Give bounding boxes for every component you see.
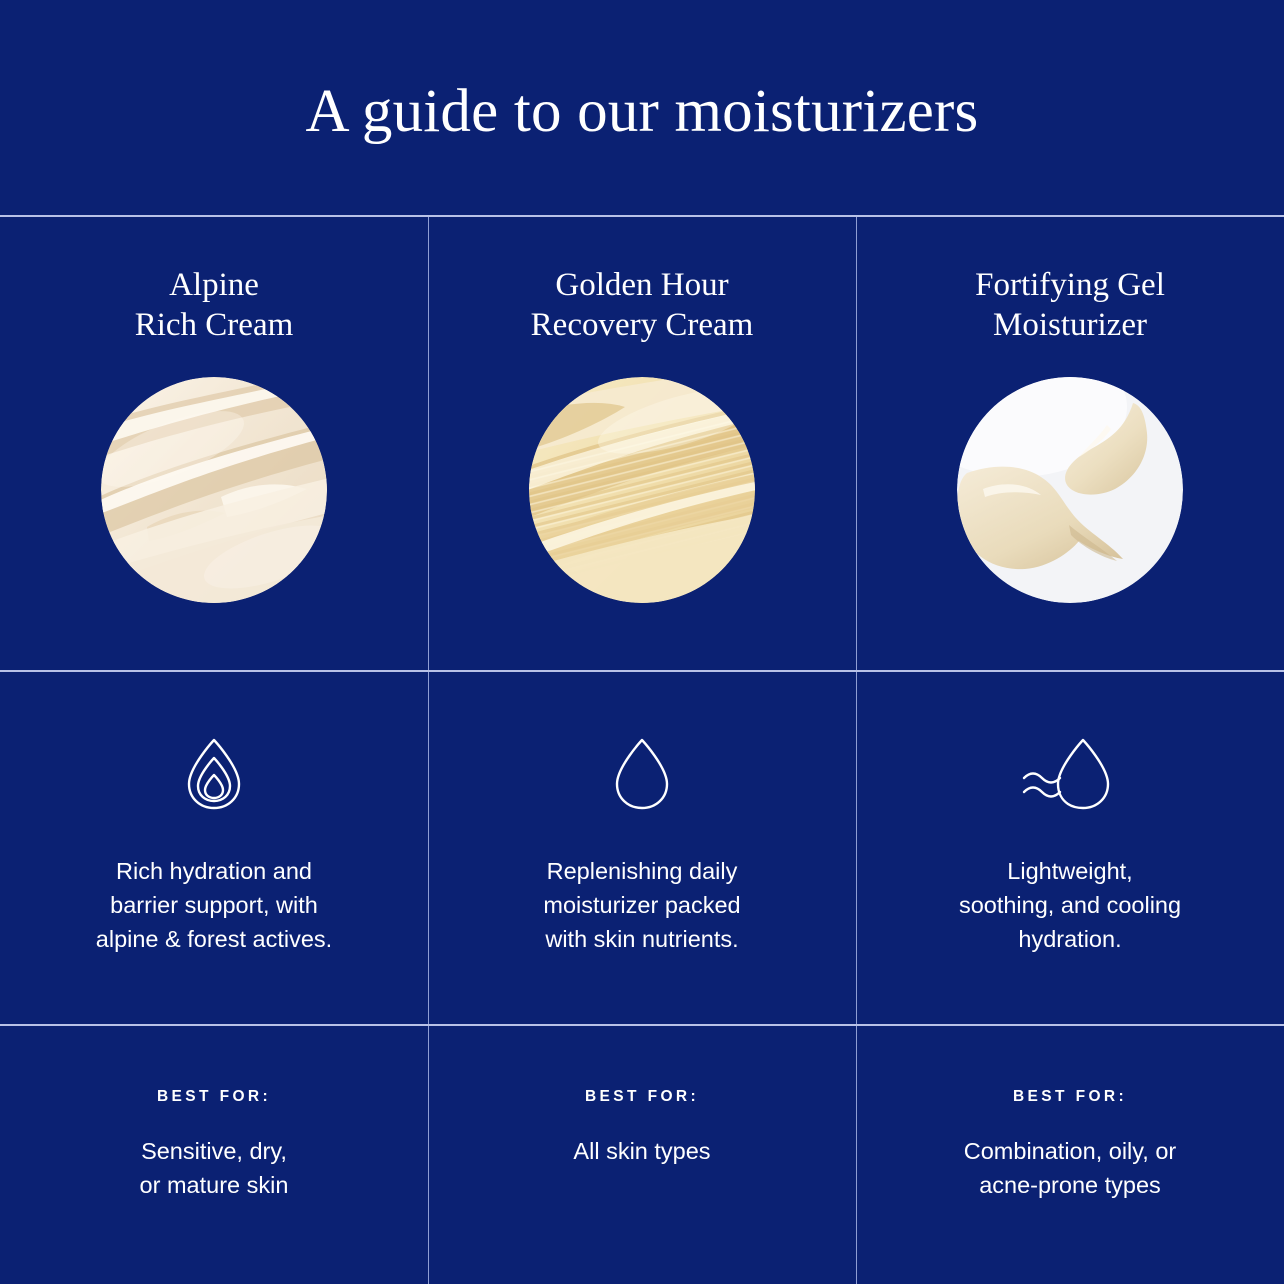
nested-droplet-icon [179, 734, 249, 814]
best-for-column-alpine-rich-cream: BEST FOR: Sensitive, dry, or mature skin [0, 1026, 428, 1284]
best-for-label: BEST FOR: [157, 1026, 271, 1106]
benefits-row: Rich hydration and barrier support, with… [0, 672, 1284, 1024]
best-for-value: Combination, oily, or acne-prone types [964, 1106, 1176, 1202]
best-for-label: BEST FOR: [1013, 1026, 1127, 1106]
best-for-label: BEST FOR: [585, 1026, 699, 1106]
benefit-column-alpine-rich-cream: Rich hydration and barrier support, with… [0, 672, 428, 1024]
best-for-row: BEST FOR: Sensitive, dry, or mature skin… [0, 1026, 1284, 1284]
benefit-column-fortifying-gel-moisturizer: Lightweight, soothing, and cooling hydra… [856, 672, 1284, 1024]
product-name: Fortifying Gel Moisturizer [975, 217, 1165, 345]
benefit-column-golden-hour-recovery-cream: Replenishing daily moisturizer packed wi… [428, 672, 856, 1024]
gel-swatch-fortifying [957, 377, 1183, 603]
moisturizer-guide-page: A guide to our moisturizers Alpine Rich … [0, 0, 1284, 1284]
droplet-icon [607, 734, 677, 814]
benefit-text: Lightweight, soothing, and cooling hydra… [959, 814, 1181, 956]
page-title: A guide to our moisturizers [306, 70, 979, 145]
best-for-value: Sensitive, dry, or mature skin [140, 1106, 289, 1202]
best-for-column-golden-hour-recovery-cream: BEST FOR: All skin types [428, 1026, 856, 1284]
best-for-column-fortifying-gel-moisturizer: BEST FOR: Combination, oily, or acne-pro… [856, 1026, 1284, 1284]
product-name: Alpine Rich Cream [135, 217, 294, 345]
product-row: Alpine Rich Cream [0, 217, 1284, 670]
cream-swatch-alpine [101, 377, 327, 603]
best-for-value: All skin types [573, 1106, 710, 1168]
cream-swatch-golden-hour [529, 377, 755, 603]
page-header: A guide to our moisturizers [0, 0, 1284, 215]
product-column-fortifying-gel-moisturizer[interactable]: Fortifying Gel Moisturizer [856, 217, 1284, 670]
droplet-waves-icon [1016, 734, 1124, 814]
product-column-golden-hour-recovery-cream[interactable]: Golden Hour Recovery Cream [428, 217, 856, 670]
benefit-text: Replenishing daily moisturizer packed wi… [543, 814, 740, 956]
product-column-alpine-rich-cream[interactable]: Alpine Rich Cream [0, 217, 428, 670]
benefit-text: Rich hydration and barrier support, with… [96, 814, 332, 956]
product-name: Golden Hour Recovery Cream [531, 217, 754, 345]
